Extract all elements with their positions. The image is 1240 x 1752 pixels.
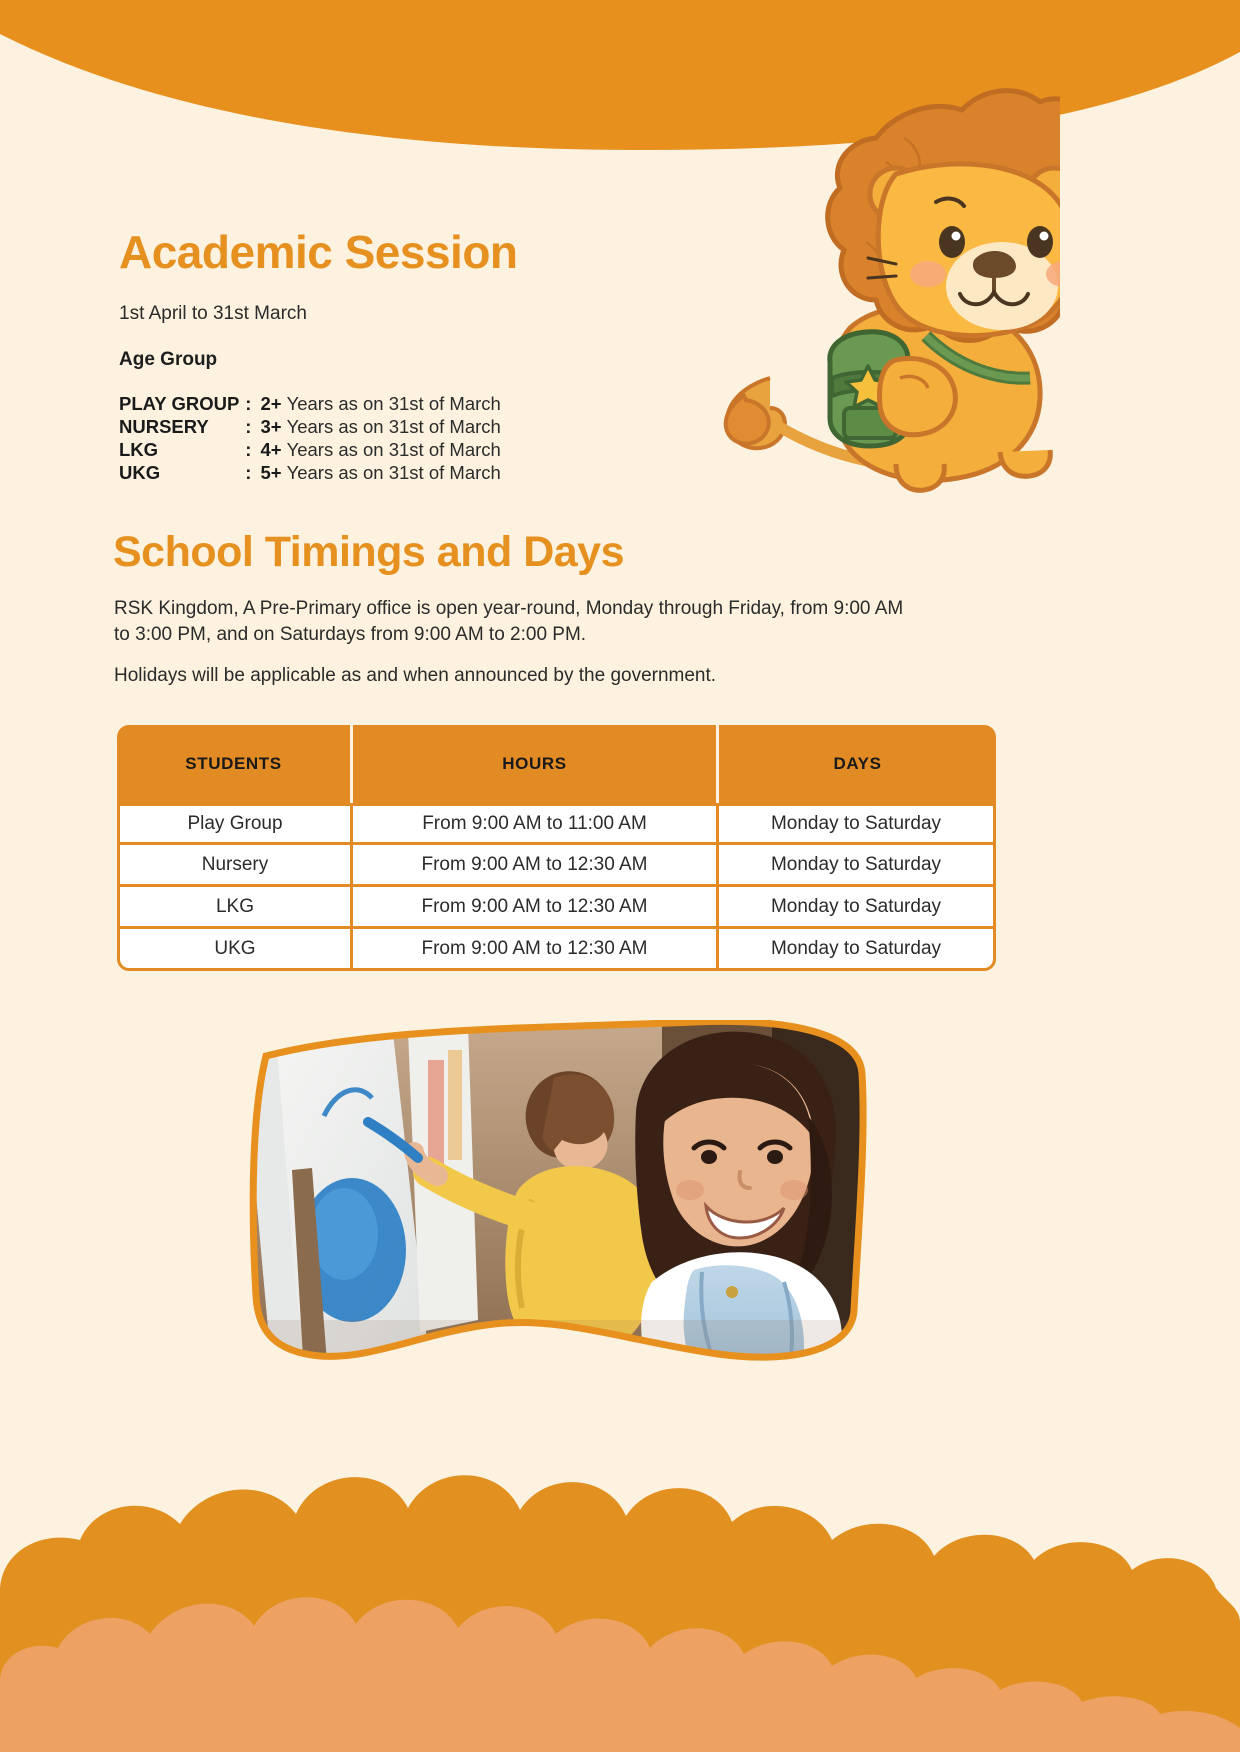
cell-student: Nursery (117, 845, 353, 887)
age-group-age: 2+ (260, 393, 286, 414)
age-group-description: Years as on 31st of March (287, 462, 501, 483)
age-group-name: PLAY GROUP (119, 392, 245, 415)
timings-table: STUDENTS HOURS DAYS Play Group From 9:00… (117, 725, 996, 971)
school-timings-paragraph: RSK Kingdom, A Pre-Primary office is ope… (114, 596, 924, 648)
age-group-description: Years as on 31st of March (287, 393, 501, 414)
column-header-days: DAYS (719, 725, 996, 803)
cell-days: Monday to Saturday (719, 803, 996, 845)
lion-mascot-icon (700, 78, 1060, 508)
age-group-age: 4+ (260, 439, 286, 460)
age-group-name: NURSERY (119, 415, 245, 438)
timings-table-container: STUDENTS HOURS DAYS Play Group From 9:00… (117, 725, 996, 971)
table-row: Nursery From 9:00 AM to 12:30 AM Monday … (117, 845, 996, 887)
bottom-orange-cloud-decoration (0, 1352, 1240, 1752)
age-group-colon: : (245, 392, 260, 415)
age-group-name: LKG (119, 438, 245, 461)
academic-session-heading: Academic Session (119, 225, 518, 279)
age-group-colon: : (245, 461, 260, 484)
age-group-row: NURSERY : 3+Years as on 31st of March (119, 415, 501, 438)
table-header-row: STUDENTS HOURS DAYS (117, 725, 996, 803)
cell-hours: From 9:00 AM to 12:30 AM (353, 887, 719, 929)
age-group-age: 5+ (260, 462, 286, 483)
academic-session-dates: 1st April to 31st March (119, 303, 307, 325)
cell-days: Monday to Saturday (719, 929, 996, 971)
age-group-colon: : (245, 438, 260, 461)
age-group-colon: : (245, 415, 260, 438)
column-header-students: STUDENTS (117, 725, 353, 803)
cell-days: Monday to Saturday (719, 845, 996, 887)
age-group-age: 3+ (260, 416, 286, 437)
cell-hours: From 9:00 AM to 12:30 AM (353, 929, 719, 971)
age-group-table: PLAY GROUP : 2+Years as on 31st of March… (119, 392, 501, 484)
age-group-row: LKG : 4+Years as on 31st of March (119, 438, 501, 461)
table-row: LKG From 9:00 AM to 12:30 AM Monday to S… (117, 887, 996, 929)
table-row: UKG From 9:00 AM to 12:30 AM Monday to S… (117, 929, 996, 971)
age-group-label: Age Group (119, 349, 217, 371)
holidays-paragraph: Holidays will be applicable as and when … (114, 663, 924, 689)
age-group-description: Years as on 31st of March (287, 416, 501, 437)
age-group-description: Years as on 31st of March (287, 439, 501, 460)
table-row: Play Group From 9:00 AM to 11:00 AM Mond… (117, 803, 996, 845)
column-header-hours: HOURS (353, 725, 719, 803)
age-group-row: UKG : 5+Years as on 31st of March (119, 461, 501, 484)
school-timings-heading: School Timings and Days (113, 528, 624, 577)
cell-hours: From 9:00 AM to 11:00 AM (353, 803, 719, 845)
cell-days: Monday to Saturday (719, 887, 996, 929)
cell-student: UKG (117, 929, 353, 971)
cell-hours: From 9:00 AM to 12:30 AM (353, 845, 719, 887)
age-group-name: UKG (119, 461, 245, 484)
children-painting-photo (232, 1020, 887, 1375)
cell-student: LKG (117, 887, 353, 929)
age-group-row: PLAY GROUP : 2+Years as on 31st of March (119, 392, 501, 415)
cell-student: Play Group (117, 803, 353, 845)
